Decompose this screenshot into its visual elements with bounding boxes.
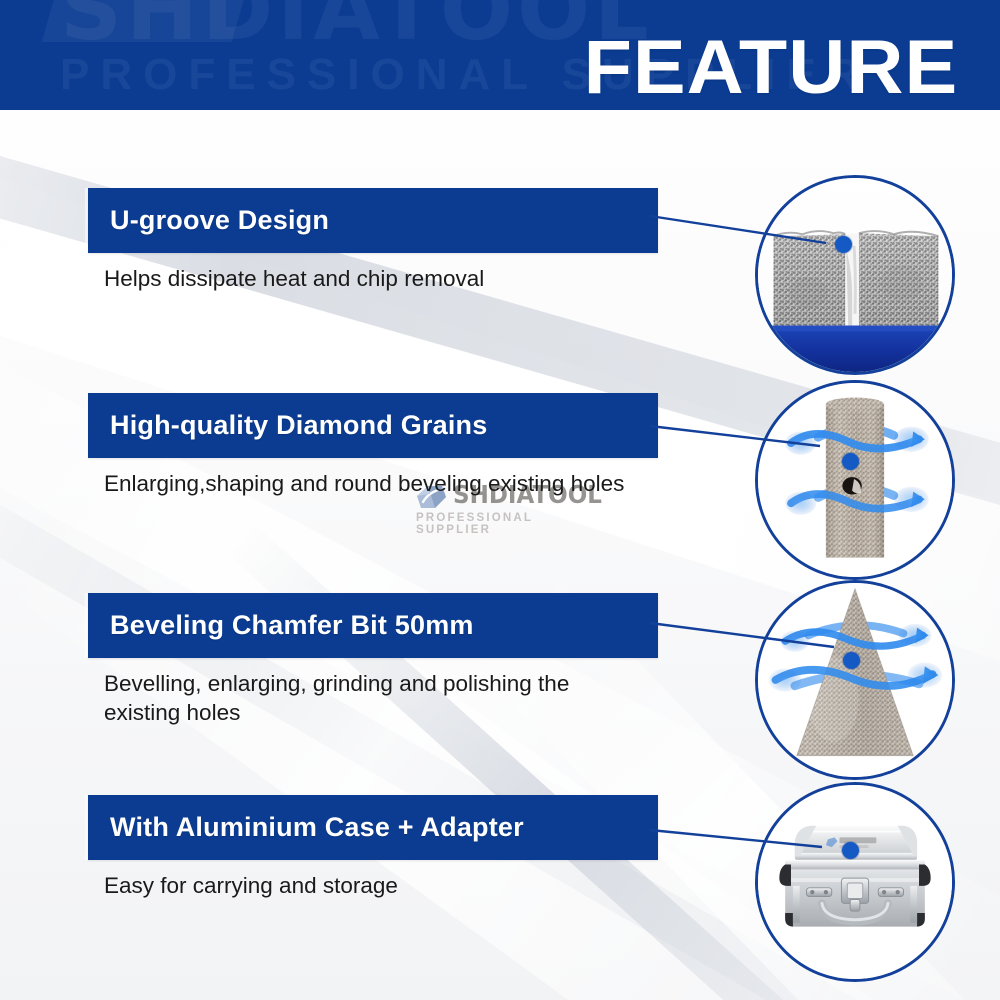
feature-title-2: High-quality Diamond Grains [110,410,487,441]
feature-item-1: U-groove Design Helps dissipate heat and… [88,188,658,294]
callout-dot-1 [835,236,852,253]
feature-title-bar-2[interactable]: High-quality Diamond Grains [88,393,658,458]
feature-item-4: With Aluminium Case + Adapter Easy for c… [88,795,658,901]
feature-item-2: High-quality Diamond Grains Enlarging,sh… [88,393,658,499]
brand-watermark-tagline: PROFESSIONAL SUPPLIER [416,512,595,536]
infographic-canvas: SHDIATOOL PROFESSIONAL SUPPLIER FEATURE … [0,0,1000,1000]
callout-dot-3 [843,652,860,669]
feature-image-1 [755,175,955,375]
feature-title-3: Beveling Chamfer Bit 50mm [110,610,474,641]
cylindrical-diamond-bit-photo [758,383,952,577]
feature-image-3 [755,580,955,780]
callout-dot-2 [842,453,859,470]
feature-description-4: Easy for carrying and storage [88,872,648,901]
feature-title-bar-1[interactable]: U-groove Design [88,188,658,253]
feature-description-3: Bevelling, enlarging, grinding and polis… [88,670,633,727]
page-header: SHDIATOOL PROFESSIONAL SUPPLIER FEATURE [0,0,1000,110]
feature-title-bar-3[interactable]: Beveling Chamfer Bit 50mm [88,593,658,658]
callout-dot-4 [842,842,859,859]
feature-title-1: U-groove Design [110,205,329,236]
cone-chamfer-bit-photo [758,583,952,777]
feature-description-1: Helps dissipate heat and chip removal [88,265,648,294]
feature-title-4: With Aluminium Case + Adapter [110,812,524,843]
feature-item-3: Beveling Chamfer Bit 50mm Bevelling, enl… [88,593,658,727]
page-title: FEATURE [583,30,958,106]
u-groove-core-bit-closeup-photo [758,178,952,372]
feature-description-2: Enlarging,shaping and round beveling exi… [88,470,628,499]
feature-image-4 [755,782,955,982]
feature-title-bar-4[interactable]: With Aluminium Case + Adapter [88,795,658,860]
aluminium-carrying-case-photo [758,785,952,979]
feature-image-2 [755,380,955,580]
